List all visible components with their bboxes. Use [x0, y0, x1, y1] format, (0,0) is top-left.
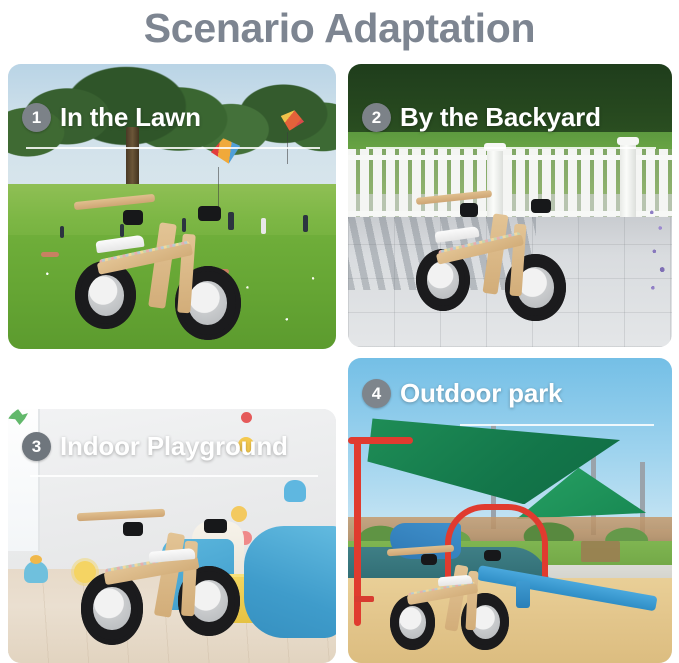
handlebar-grip [484, 550, 501, 561]
person [261, 218, 266, 234]
panel-label: Outdoor park [400, 378, 562, 409]
bike-seat [434, 226, 479, 243]
scenario-panel-1[interactable]: 1 In the Lawn [8, 64, 336, 349]
panel-number-badge: 2 [362, 103, 391, 132]
panel-label: In the Lawn [60, 102, 201, 133]
panel-number-badge: 4 [362, 379, 391, 408]
handlebar [387, 545, 454, 556]
balance-bike-product [74, 198, 258, 335]
panel-3-label-row: 3 Indoor Playground [22, 431, 288, 462]
scenario-panel-3[interactable]: 3 Indoor Playground [8, 409, 336, 663]
handlebar-grip [123, 522, 144, 536]
handlebar-grip [421, 554, 437, 565]
park-bench [581, 541, 620, 562]
bike-seat [95, 234, 144, 253]
handlebar-grip [123, 210, 143, 225]
handlebar-grip [198, 206, 220, 221]
balance-bike-product [77, 511, 267, 651]
balance-bike-product [387, 547, 530, 657]
swing-seat [354, 596, 374, 602]
panel-4-label-row: 4 Outdoor park [362, 378, 562, 409]
page-title: Scenario Adaptation [0, 2, 679, 54]
handlebar-grip [204, 519, 227, 533]
label-underline [30, 475, 318, 477]
label-underline [26, 147, 320, 149]
scenario-panel-4[interactable]: 4 Outdoor park [348, 358, 672, 663]
panel-number-badge: 1 [22, 103, 51, 132]
wall-decal-dot [241, 412, 252, 423]
balance-bike-product [416, 194, 584, 319]
handlebar [77, 508, 165, 521]
label-underline [460, 424, 654, 426]
panel-number-badge: 3 [22, 432, 51, 461]
handlebar-grip [460, 203, 479, 217]
label-underline [366, 147, 656, 149]
panel-2-label-row: 2 By the Backyard [362, 102, 601, 133]
panel-label: Indoor Playground [60, 431, 288, 462]
person [60, 226, 64, 238]
panel-1-label-row: 1 In the Lawn [22, 102, 201, 133]
person [303, 215, 308, 232]
panel-label: By the Backyard [400, 102, 601, 133]
picnic-blanket [41, 252, 59, 257]
swing-frame-beam [348, 437, 413, 444]
frame-head-tube [149, 222, 177, 308]
wall-decal-octopus [24, 561, 48, 583]
handlebar-grip [531, 199, 551, 213]
scenario-panel-2[interactable]: 2 By the Backyard [348, 64, 672, 347]
wall-decal-monster [284, 480, 306, 502]
lavender-plant [644, 189, 670, 319]
